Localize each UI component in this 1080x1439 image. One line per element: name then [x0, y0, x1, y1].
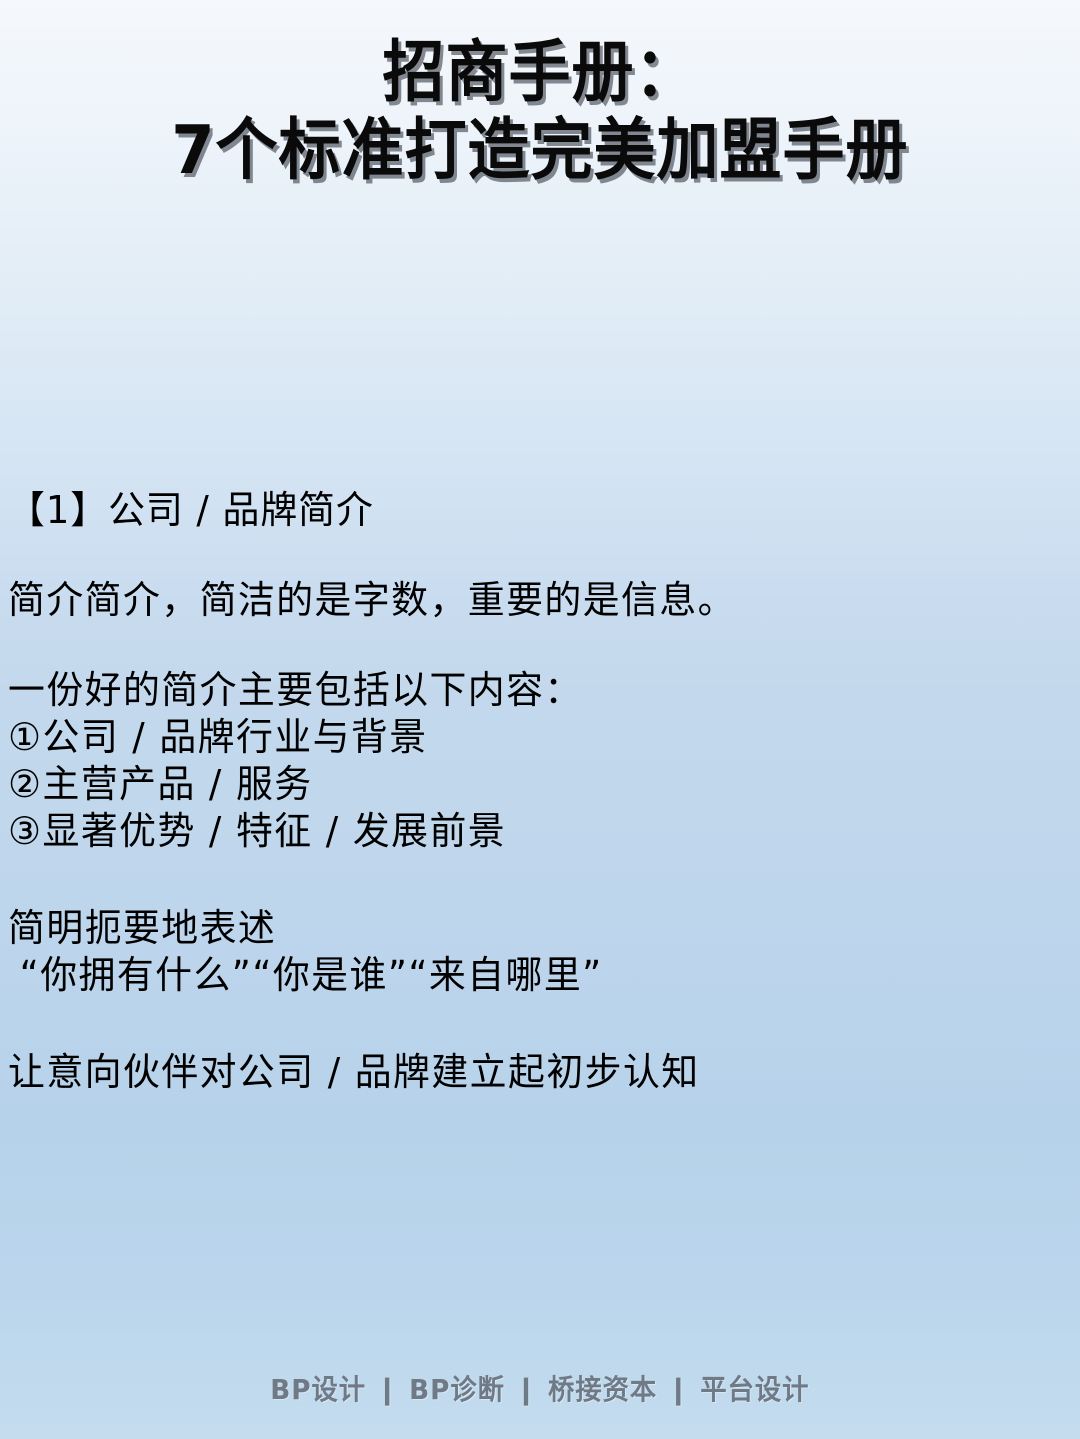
summary-quotes: “你拥有什么”“你是谁”“来自哪里”	[8, 952, 1028, 999]
poster-title: 招商手册： 7个标准打造完美加盟手册	[0, 30, 1080, 186]
spacer	[8, 855, 1060, 905]
title-line-2: 7个标准打造完美加盟手册	[0, 108, 1080, 192]
list-item: ②主营产品 / 服务	[8, 761, 1028, 808]
title-line-1: 招商手册：	[0, 30, 1080, 114]
poster-canvas: 招商手册： 7个标准打造完美加盟手册 【1】公司 / 品牌简介 简介简介，简洁的…	[0, 0, 1080, 1439]
list-item: ①公司 / 品牌行业与背景	[8, 714, 1028, 761]
footer-bar: BP设计 ❙ BP诊断 ❙ 桥接资本 ❙ 平台设计	[0, 1373, 1080, 1407]
section-heading: 【1】公司 / 品牌简介	[8, 487, 1028, 534]
summary-lead-in: 简明扼要地表述	[8, 905, 1028, 952]
footer-services-text: BP设计 ❙ BP诊断 ❙ 桥接资本 ❙ 平台设计	[270, 1373, 809, 1407]
spacer	[8, 624, 1060, 667]
list-lead-in: 一份好的简介主要包括以下内容：	[8, 667, 1028, 714]
closing-paragraph: 让意向伙伴对公司 / 品牌建立起初步认知	[8, 1049, 1028, 1096]
body-content: 【1】公司 / 品牌简介 简介简介，简洁的是字数，重要的是信息。 一份好的简介主…	[8, 487, 1060, 1096]
list-item: ③显著优势 / 特征 / 发展前景	[8, 808, 1028, 855]
spacer	[8, 534, 1060, 577]
spacer	[8, 999, 1060, 1049]
intro-paragraph: 简介简介，简洁的是字数，重要的是信息。	[8, 577, 1028, 624]
